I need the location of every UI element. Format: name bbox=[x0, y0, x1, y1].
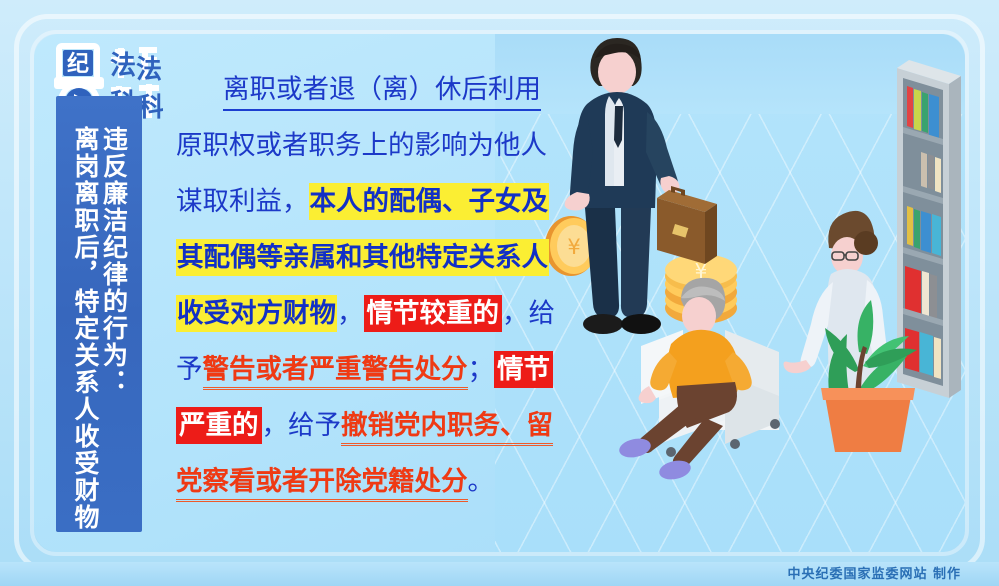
text-segment-plain: ， bbox=[337, 298, 364, 329]
producer-credit: 中央纪委国家监委网站 制作 bbox=[787, 563, 961, 582]
regulation-text-line: 原职权或者职务上的影响为他人 bbox=[176, 118, 588, 174]
regulation-text-line: 收受对方财物，情节较重的，给 bbox=[176, 286, 588, 342]
text-segment-plain: ； bbox=[468, 354, 495, 385]
regulation-text-line: 其配偶等亲属和其他特定关系人 bbox=[176, 230, 588, 286]
text-segment-hl-yellow: 本人的配偶、子女及 bbox=[309, 183, 550, 220]
poster-canvas: ¥ ¥ bbox=[0, 0, 999, 586]
illustration-artwork: ¥ ¥ bbox=[529, 0, 999, 518]
bookshelf-icon bbox=[897, 60, 961, 398]
banner-column-left: 离岗离职后，特定关系人收受财物 bbox=[72, 126, 99, 532]
vertical-title-banner: 违反廉洁纪律的行为： 离岗离职后，特定关系人收受财物 bbox=[56, 96, 142, 532]
text-segment-hl-red: 情节较重的 bbox=[364, 295, 503, 332]
text-segment-plain: ，给 bbox=[502, 298, 555, 329]
regulation-text-block: 离职或者退（离）休后利用原职权或者职务上的影响为他人谋取利益，本人的配偶、子女及… bbox=[176, 62, 588, 510]
text-segment-red-dbl: 警告或者严重警告处分 bbox=[203, 354, 468, 390]
text-segment-red-dbl: 撤销党内职务、留 bbox=[341, 410, 553, 446]
regulation-text-line: 党察看或者开除党籍处分。 bbox=[176, 454, 588, 510]
text-segment-plain: 予 bbox=[176, 354, 203, 385]
svg-text:法: 法 bbox=[136, 55, 162, 85]
banner-column-right: 违反廉洁纪律的行为： bbox=[100, 126, 127, 532]
text-segment-plain: 原职权或者职务上的影响为他人 bbox=[176, 130, 547, 161]
regulation-text-line: 离职或者退（离）休后利用 bbox=[176, 62, 588, 118]
text-segment-hl-yellow: 收受对方财物 bbox=[176, 295, 337, 332]
text-segment-u-blue: 离职或者退（离）休后利用 bbox=[223, 74, 541, 111]
regulation-text-line: 谋取利益，本人的配偶、子女及 bbox=[176, 174, 588, 230]
briefcase-icon bbox=[657, 186, 717, 264]
text-segment-red-dbl: 党察看或者开除党籍处分 bbox=[176, 466, 468, 502]
text-segment-hl-yellow: 其配偶等亲属和其他特定关系人 bbox=[176, 239, 549, 276]
regulation-text-line: 予警告或者严重警告处分；情节 bbox=[176, 342, 588, 398]
regulation-text-line: 严重的，给予撤销党内职务、留 bbox=[176, 398, 588, 454]
text-segment-plain: 谋取利益， bbox=[176, 186, 309, 217]
svg-text:法: 法 bbox=[110, 51, 136, 81]
svg-text:纪: 纪 bbox=[67, 51, 89, 77]
text-segment-hl-red: 严重的 bbox=[176, 407, 262, 444]
text-segment-plain: 。 bbox=[468, 466, 495, 497]
text-segment-plain: ，给予 bbox=[262, 410, 342, 441]
text-segment-hl-red: 情节 bbox=[494, 351, 553, 388]
